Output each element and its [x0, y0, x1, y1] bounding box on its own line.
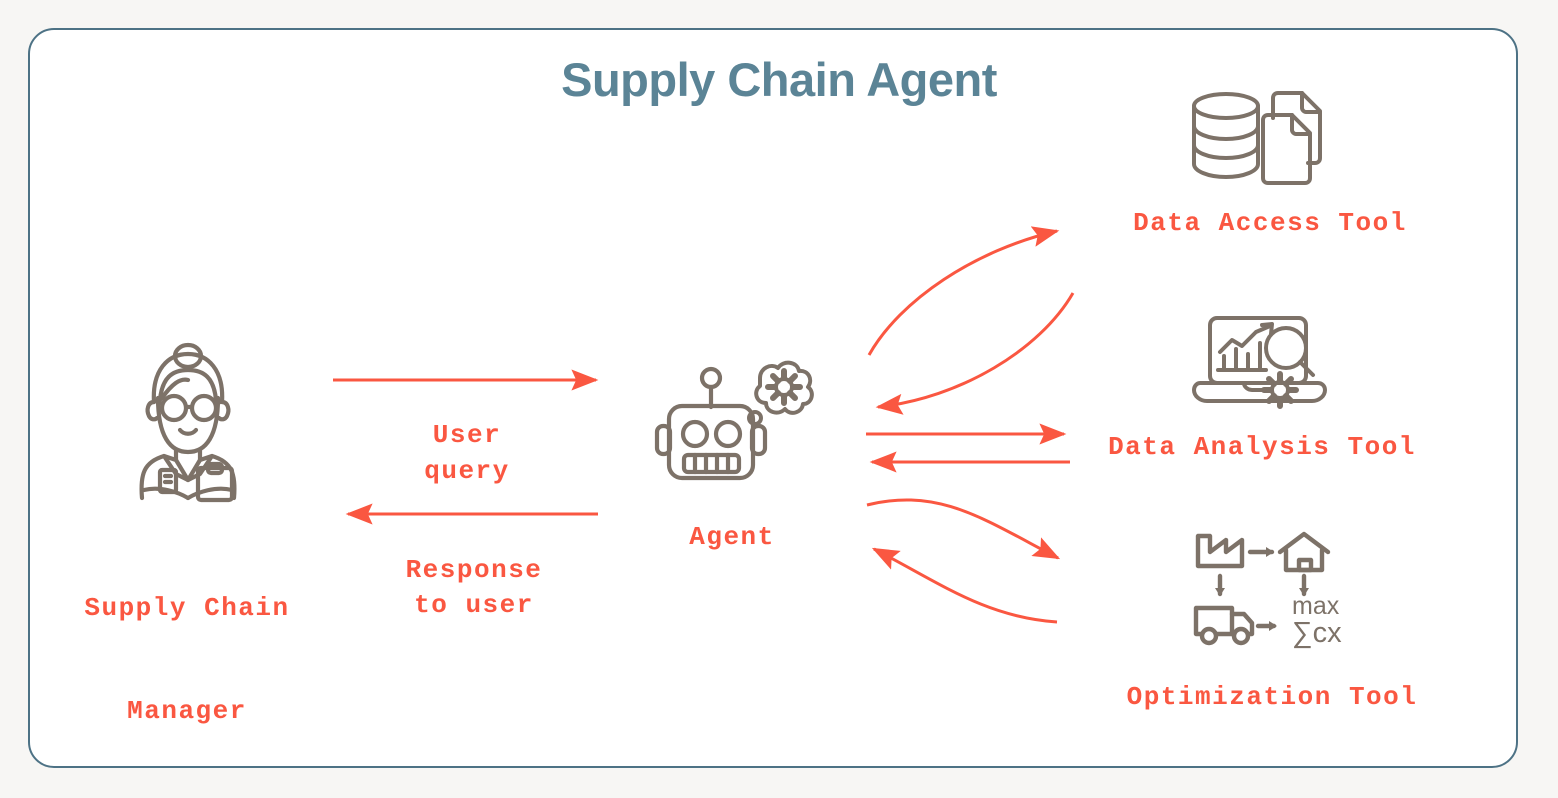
database-and-documents-icon [1188, 88, 1328, 188]
diagram-canvas: Supply Chain Agent [0, 0, 1558, 798]
response-label-line2: to user [340, 588, 608, 622]
laptop-chart-magnifier-gear-icon [1192, 312, 1327, 412]
user-label-line1: Supply Chain [82, 591, 292, 625]
gear-thought-bubble-icon [733, 358, 823, 448]
user-label-line2: Manager [82, 694, 292, 728]
response-label-lower: to user [340, 519, 608, 691]
objective-max: max [1292, 594, 1362, 619]
objective-sum-cx: ∑cx [1292, 619, 1362, 648]
data-analysis-tool-label: Data Analysis Tool [1102, 430, 1422, 464]
person-with-clipboard-icon [118, 340, 258, 500]
user-query-label-line2: query [333, 454, 601, 488]
data-access-tool-label: Data Access Tool [1120, 206, 1420, 240]
optimization-tool-label: Optimization Tool [1112, 680, 1432, 714]
user-label: Supply Chain Manager [82, 522, 292, 797]
agent-label: Agent [637, 520, 827, 554]
optimization-objective: max ∑cx [1292, 594, 1362, 648]
